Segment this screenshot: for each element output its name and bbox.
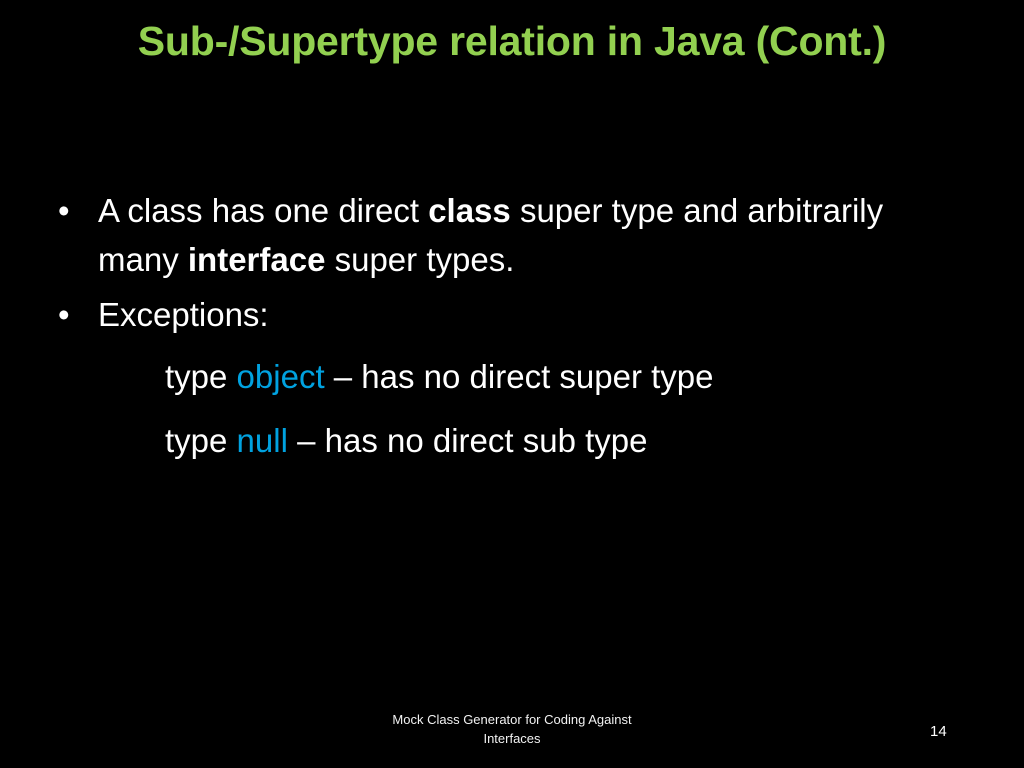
bullet-item-text: Exceptions: (98, 290, 958, 339)
sub-line-null: type null – has no direct sub type (165, 409, 958, 473)
sub-line-object: type object – has no direct super type (165, 345, 958, 409)
bullet-text-part-1: A class has one direct (98, 192, 428, 229)
bullet-item: • Exceptions: (58, 290, 958, 339)
bullet-item-text: A class has one direct class super type … (98, 186, 958, 284)
slide-body: • A class has one direct class super typ… (58, 186, 958, 473)
slide-title: Sub-/Supertype relation in Java (Cont.) (0, 18, 1024, 65)
bullet-text-part-1: Exceptions: (98, 296, 269, 333)
bullet-keyword-interface: interface (188, 241, 326, 278)
sub-line-prefix: type (165, 358, 237, 395)
bullet-keyword-class: class (428, 192, 511, 229)
presentation-slide: Sub-/Supertype relation in Java (Cont.) … (0, 0, 1024, 768)
type-keyword-null: null (237, 422, 288, 459)
sub-line-prefix: type (165, 422, 237, 459)
footer-line-2: Interfaces (312, 729, 712, 748)
bullet-marker-icon: • (58, 186, 98, 235)
bullet-text-part-3: super types. (325, 241, 514, 278)
bullet-marker-icon: • (58, 290, 98, 339)
bullet-item: • A class has one direct class super typ… (58, 186, 958, 284)
sub-line-suffix: – has no direct super type (325, 358, 714, 395)
type-keyword-object: object (237, 358, 325, 395)
footer-line-1: Mock Class Generator for Coding Against (312, 710, 712, 729)
sub-line-suffix: – has no direct sub type (288, 422, 648, 459)
slide-page-number: 14 (930, 722, 970, 741)
slide-footer: Mock Class Generator for Coding Against … (312, 710, 712, 748)
